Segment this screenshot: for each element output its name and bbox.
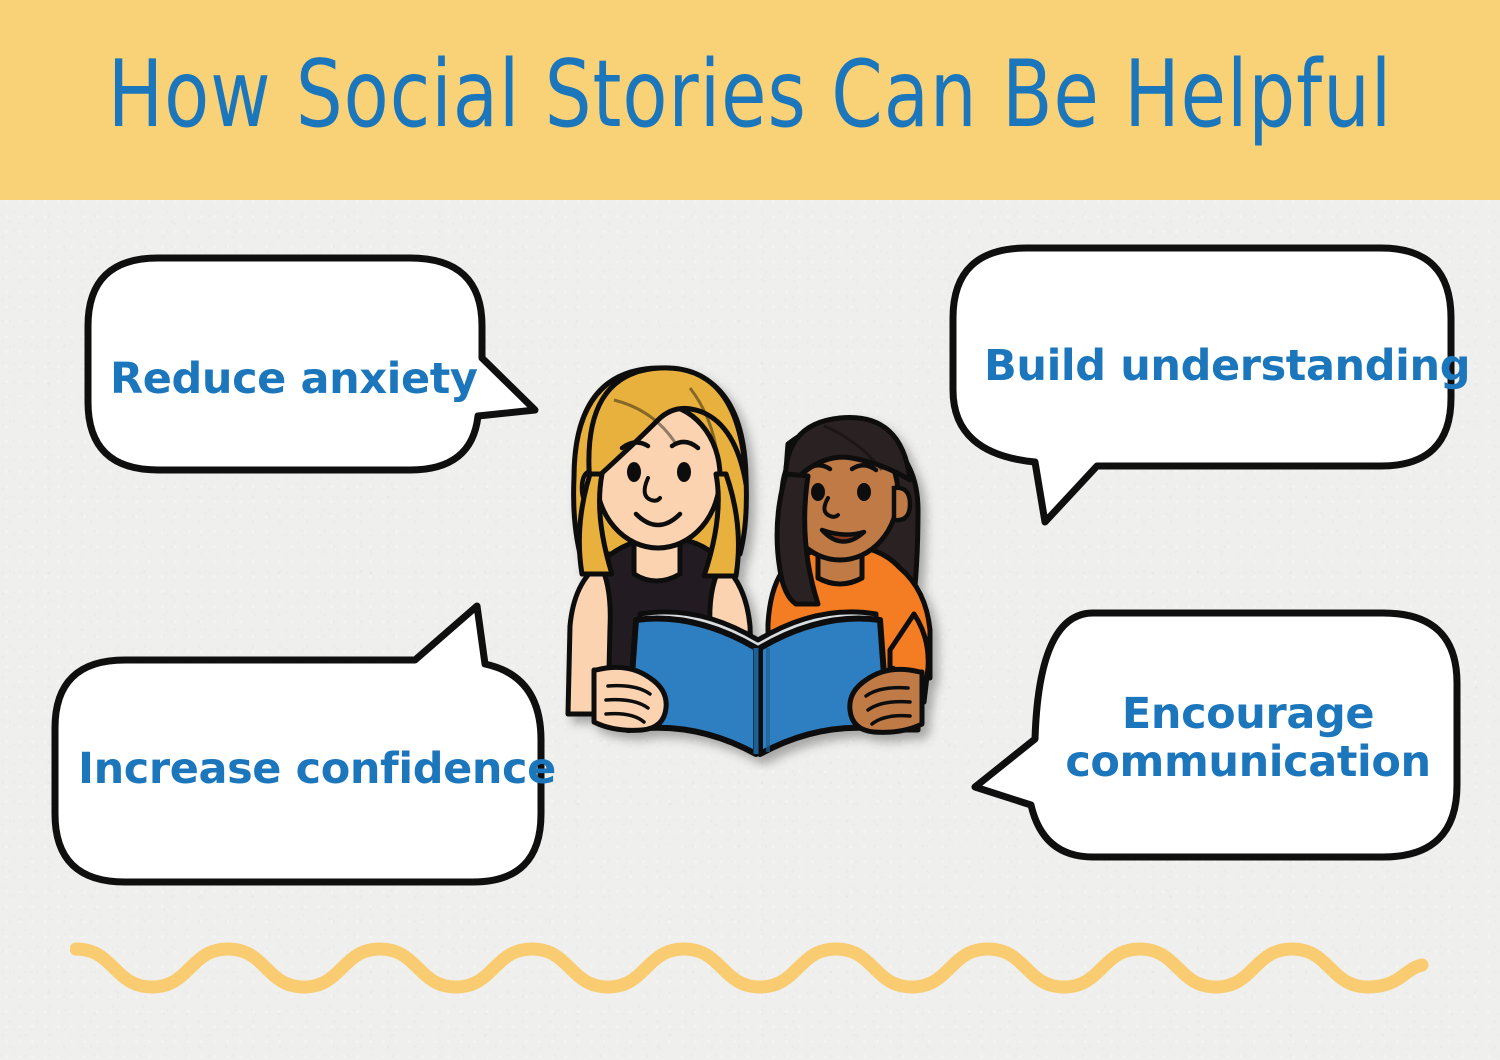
child-eye-left — [811, 483, 825, 501]
child-ear — [894, 488, 910, 520]
child-eye-right — [857, 483, 871, 501]
book — [628, 612, 888, 754]
bubble-label-encourage-communication: Encourage communication — [1048, 690, 1448, 786]
header-banner: How Social Stories Can Be Helpful — [0, 0, 1500, 200]
reading-illustration — [536, 352, 980, 770]
poster-canvas: How Social Stories Can Be Helpful Reduce… — [0, 0, 1500, 1060]
bubble-label-build-understanding: Build understanding — [984, 342, 1470, 390]
page-title: How Social Stories Can Be Helpful — [23, 48, 1478, 141]
illustration-figures — [568, 368, 930, 754]
bubble-label-increase-confidence: Increase confidence — [78, 745, 556, 793]
adult-eye-right — [677, 462, 691, 482]
wave-path — [76, 949, 1422, 987]
adult-eye-left — [627, 462, 641, 482]
bubble-label-reduce-anxiety: Reduce anxiety — [110, 355, 478, 403]
wave-divider — [70, 925, 1430, 1005]
